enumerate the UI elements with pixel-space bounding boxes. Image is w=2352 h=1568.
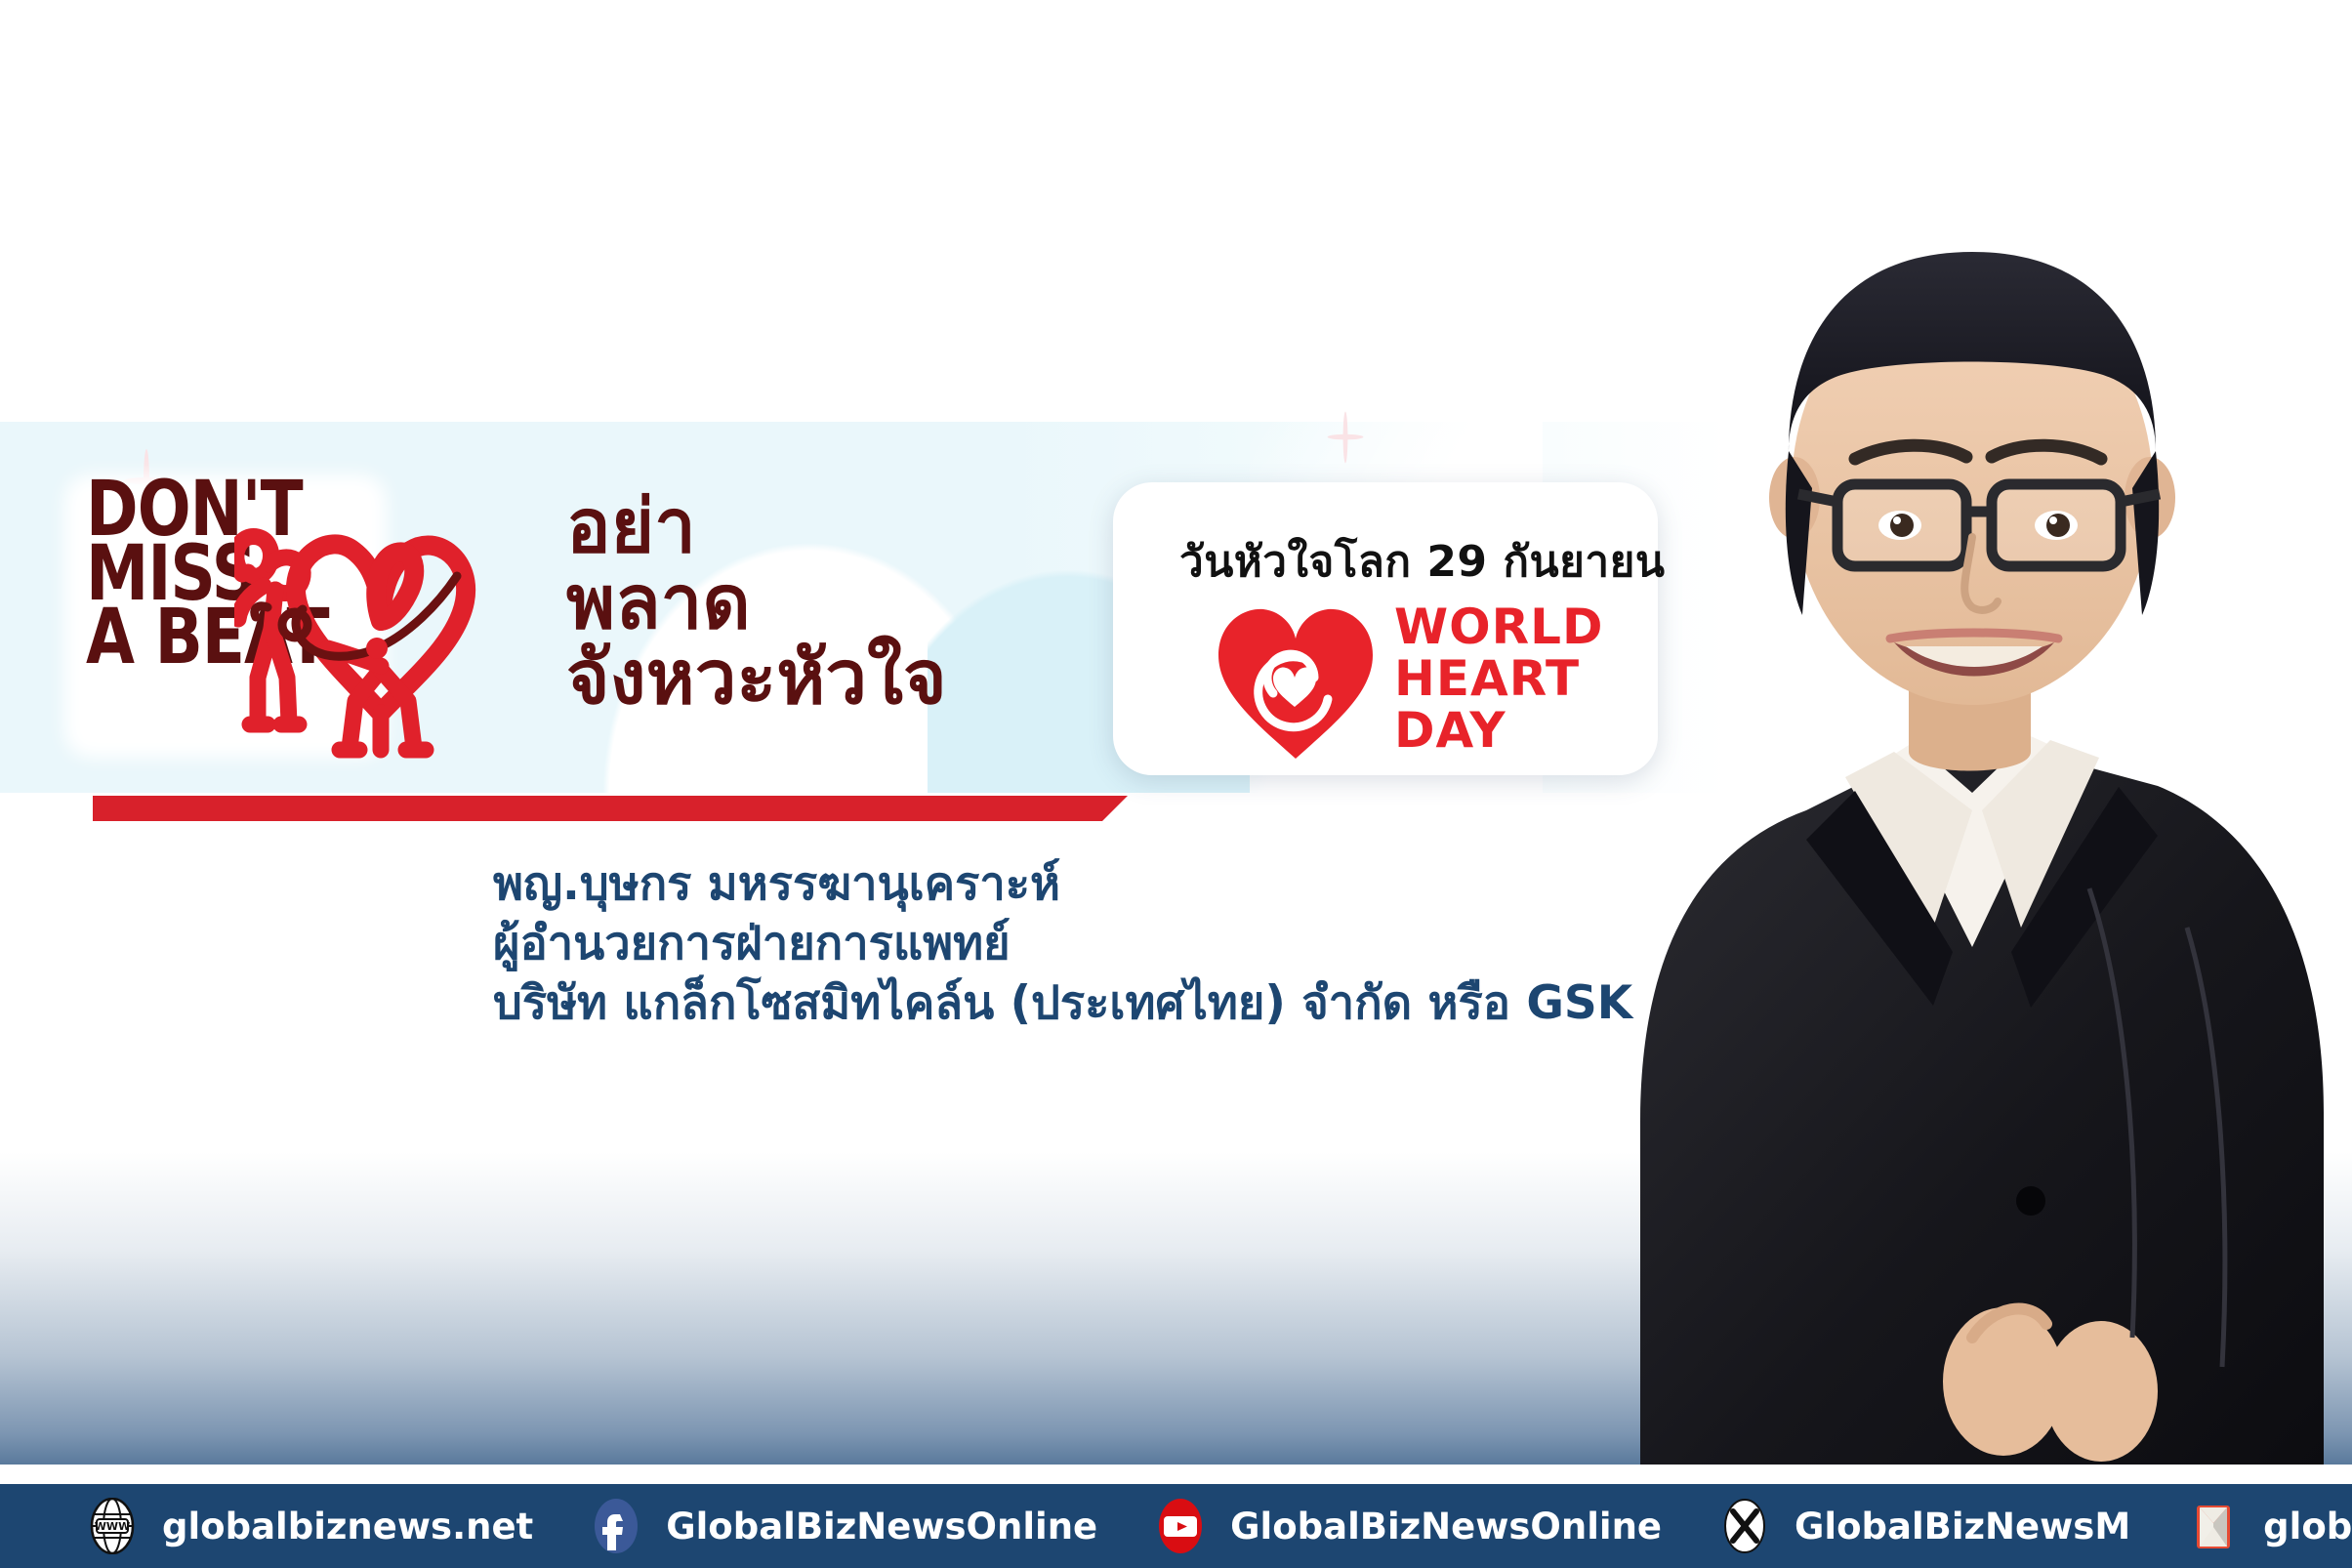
headline-th-line-1: อย่า — [566, 488, 947, 564]
footer-label-youtube: GlobalBizNewsOnline — [1230, 1506, 1662, 1547]
footer-label-x: GlobalBizNewsM — [1795, 1506, 2130, 1547]
footer-label-website: globalbiznews.net — [162, 1506, 533, 1547]
footer-item-x[interactable]: GlobalBizNewsM — [1716, 1498, 2130, 1554]
footer-item-website[interactable]: WWW globalbiznews.net — [84, 1498, 533, 1554]
footer-top-divider — [0, 1465, 2352, 1486]
headline-th-line-2: พลาด — [566, 564, 947, 640]
gmail-icon — [2185, 1498, 2242, 1554]
youtube-icon — [1152, 1498, 1209, 1554]
headline-th-line-3: จังหวะหัวใจ — [566, 640, 947, 716]
x-twitter-icon — [1716, 1498, 1773, 1554]
svg-text:WWW: WWW — [95, 1520, 130, 1533]
headline-thai: อย่า พลาด จังหวะหัวใจ — [566, 488, 947, 716]
footer-item-facebook[interactable]: GlobalBizNewsOnline — [588, 1498, 1097, 1554]
footer-label-email: globalbiznews.media@gmail.com — [2263, 1506, 2352, 1547]
speaker-photo — [1347, 68, 2352, 1484]
facebook-icon — [588, 1498, 644, 1554]
footer-bar: WWW globalbiznews.net GlobalBizNewsOnlin… — [0, 1484, 2352, 1568]
footer-label-facebook: GlobalBizNewsOnline — [666, 1506, 1097, 1547]
heart-figures-graphic — [234, 457, 527, 760]
footer-item-youtube[interactable]: GlobalBizNewsOnline — [1152, 1498, 1662, 1554]
red-underline-bar — [93, 796, 1128, 821]
footer-item-email[interactable]: globalbiznews.media@gmail.com — [2185, 1498, 2352, 1554]
poster-canvas: DON'T MISS A BEAT — [0, 0, 2352, 1568]
globe-www-icon: WWW — [84, 1498, 141, 1554]
